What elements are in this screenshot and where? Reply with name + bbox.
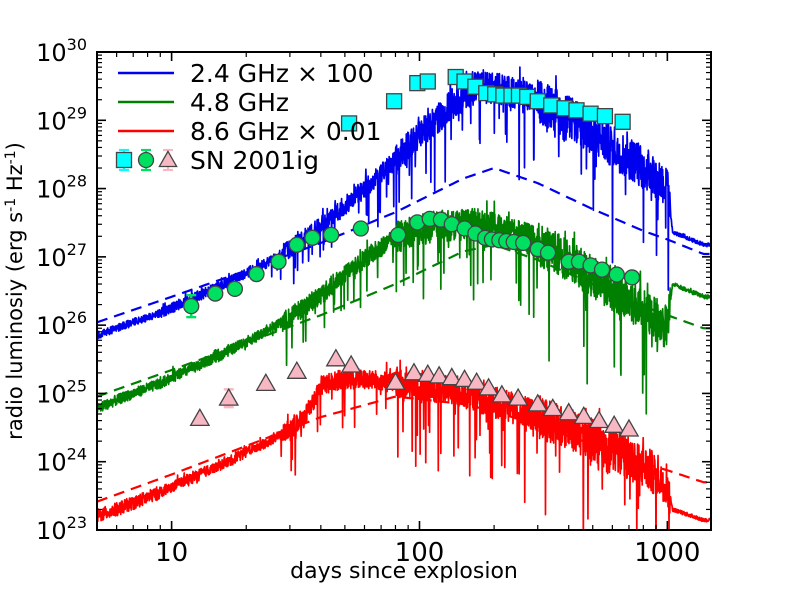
x-tick-label: 1000 — [634, 538, 700, 568]
radio-light-curve-plot: 1010010001023102410251026102710281029103… — [0, 0, 789, 592]
marker-square — [597, 109, 612, 124]
legend-label-0: 2.4 GHz × 100 — [190, 59, 374, 88]
marker-circle — [184, 299, 199, 314]
marker-square — [615, 114, 630, 129]
figure-container: 1010010001023102410251026102710281029103… — [0, 0, 789, 592]
data-point-1 — [391, 227, 406, 242]
legend-label-2: 8.6 GHz × 0.01 — [190, 117, 382, 146]
marker-circle — [595, 262, 610, 277]
data-point-1 — [595, 262, 610, 277]
data-point-0 — [569, 103, 584, 118]
data-point-1 — [271, 254, 286, 269]
marker-circle — [249, 267, 264, 282]
y-axis-title-main: radio luminosiy (erg s — [3, 212, 27, 440]
data-point-1 — [624, 270, 639, 285]
data-point-1 — [516, 235, 531, 250]
marker-circle — [227, 281, 242, 296]
y-axis-title-sup1: -1 — [3, 198, 19, 212]
data-point-1 — [324, 227, 339, 242]
y-axis-title-end: ) — [3, 142, 27, 150]
marker-square — [530, 94, 545, 109]
data-point-0 — [530, 94, 545, 109]
y-axis-title-mid: Hz — [3, 164, 27, 198]
data-point-1 — [227, 281, 242, 296]
marker-circle — [271, 254, 286, 269]
y-axis-title-sup2: -1 — [3, 150, 19, 164]
marker-circle — [139, 153, 154, 168]
y-axis-title: radio luminosiy (erg s-1 Hz-1) — [3, 142, 27, 440]
marker-circle — [609, 267, 624, 282]
data-point-0 — [420, 74, 435, 89]
x-tick-label: 10 — [155, 538, 188, 568]
data-point-0 — [597, 109, 612, 124]
marker-square — [387, 94, 402, 109]
data-point-1 — [353, 221, 368, 236]
data-point-0 — [387, 94, 402, 109]
marker-circle — [208, 286, 223, 301]
marker-circle — [516, 235, 531, 250]
marker-circle — [624, 270, 639, 285]
legend-label-3: SN 2001ig — [190, 146, 319, 175]
marker-square — [583, 106, 598, 121]
marker-circle — [541, 245, 556, 260]
marker-circle — [391, 227, 406, 242]
data-point-1 — [305, 230, 320, 245]
data-point-1 — [609, 267, 624, 282]
legend-label-1: 4.8 GHz — [190, 88, 289, 117]
data-point-1 — [289, 237, 304, 252]
marker-circle — [324, 227, 339, 242]
data-point-1 — [541, 245, 556, 260]
legend-marker-square — [117, 150, 132, 170]
marker-circle — [353, 221, 368, 236]
x-axis-title: days since explosion — [290, 559, 518, 584]
marker-square — [420, 74, 435, 89]
data-point-1 — [208, 286, 223, 301]
marker-circle — [289, 237, 304, 252]
data-point-1 — [249, 267, 264, 282]
marker-square — [117, 153, 132, 168]
data-point-0 — [583, 106, 598, 121]
marker-square — [569, 103, 584, 118]
data-point-1 — [184, 299, 199, 314]
marker-circle — [305, 230, 320, 245]
data-point-0 — [615, 114, 630, 129]
